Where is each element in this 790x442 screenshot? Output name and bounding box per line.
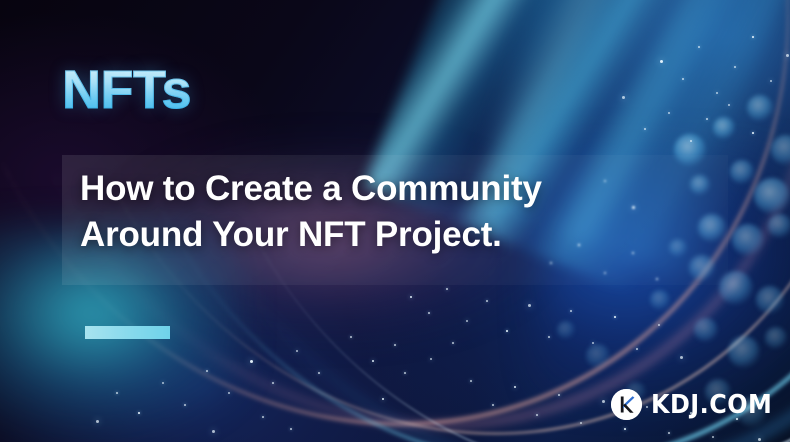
nft-article-banner: NFTs How to Create a Community Around Yo… (0, 0, 790, 442)
kdj-logo-icon (611, 389, 642, 420)
page-title: How to Create a Community Around Your NF… (80, 166, 740, 258)
headline-line-1: How to Create a Community (80, 166, 740, 212)
logo-text: KDJ.COM (651, 392, 772, 418)
accent-bar (85, 326, 170, 339)
kicker-nfts: NFTs (62, 63, 191, 117)
site-logo[interactable]: KDJ.COM (611, 389, 783, 420)
headline-line-2: Around Your NFT Project. (80, 212, 740, 258)
